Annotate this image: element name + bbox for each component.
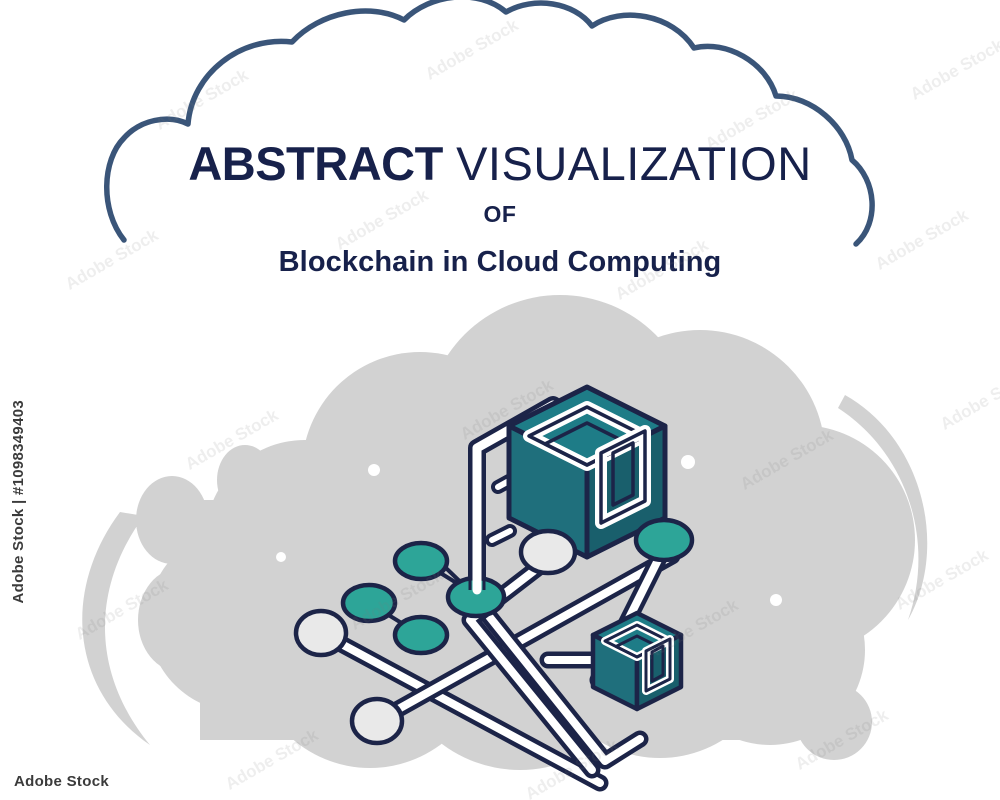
cloud-puff-tiny-left	[217, 445, 273, 515]
node-white-left[interactable]	[296, 611, 346, 655]
node-teal-lower-mid[interactable]	[395, 617, 447, 653]
cloud-puff-small-left-upper	[136, 476, 208, 564]
cloud-puff-small-left	[138, 568, 222, 672]
node-teal-upper-left[interactable]	[395, 543, 447, 579]
small-block-cube[interactable]	[593, 613, 681, 709]
node-teal-right[interactable]	[636, 520, 692, 560]
illustration-canvas: ABSTRACT VISUALIZATION OF Blockchain in …	[0, 0, 1000, 800]
node-white-bottom[interactable]	[352, 699, 402, 743]
title-cloud-outline	[107, 0, 872, 244]
node-white-center[interactable]	[521, 531, 575, 573]
accent-dot	[770, 594, 782, 606]
accent-dot	[276, 552, 286, 562]
cloud-puff-small-right	[796, 684, 872, 760]
node-teal-mid-left[interactable]	[343, 585, 395, 621]
accent-dot	[368, 464, 380, 476]
artboard	[0, 0, 1000, 800]
accent-dot	[681, 455, 695, 469]
